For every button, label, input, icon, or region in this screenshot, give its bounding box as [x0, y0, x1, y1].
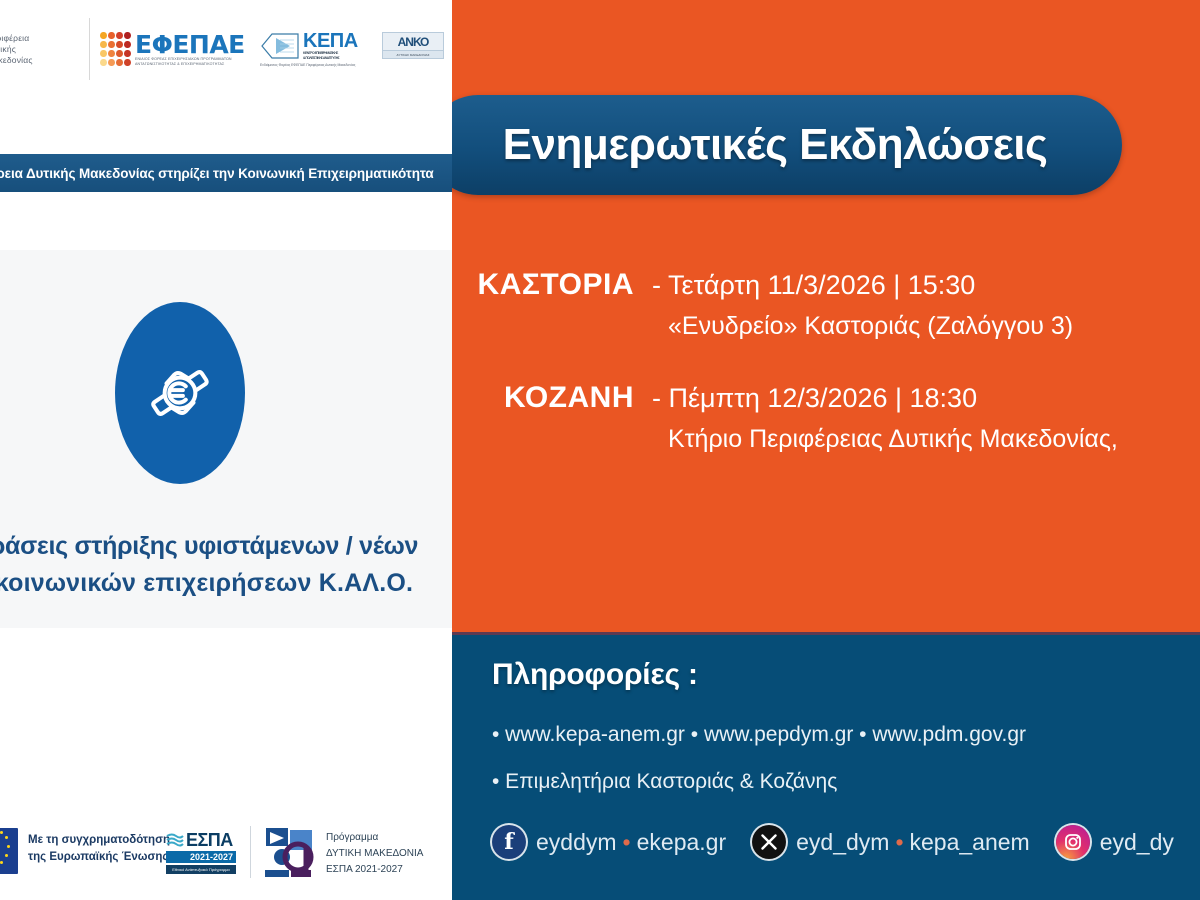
event-headline-row: ΚΑΣΤΟΡΙΑ - Τετάρτη 11/3/2026 | 15:30	[452, 268, 1200, 302]
info-websites-line: • www.kepa-anem.gr • www.pepdym.gr • www…	[492, 723, 1026, 747]
poster: Περιφέρεια Δυτικής Μακεδονίας ΕΦΕΠΑΕ ΕΝΙ…	[0, 0, 1200, 900]
headline-line-1: ράσεις στήριξης υφιστάμενων / νέων	[0, 528, 444, 565]
kepa-logo: ΚΕΠΑ ΚΕΝΤΡΟ ΕΠΙΧΕΙΡΗΜΑΤΙΚΗΣ & ΠΟΛΙΤΙΣΤΙΚ…	[260, 31, 372, 68]
social-x-twitter[interactable]: eyd_dym • kepa_anem	[752, 825, 1030, 859]
info-chambers-line: • Επιμελητήρια Καστοριάς & Κοζάνης	[492, 770, 837, 794]
instagram-icon[interactable]	[1056, 825, 1090, 859]
kepa-chevron-icon	[260, 31, 300, 61]
left-panel: Περιφέρεια Δυτικής Μακεδονίας ΕΦΕΠΑΕ ΕΝΙ…	[0, 0, 452, 900]
social-instagram[interactable]: eyd_dy	[1056, 825, 1174, 859]
facebook-handle-secondary: ekepa.gr	[637, 829, 727, 856]
event-venue: Κτήριο Περιφέρειας Δυτικής Μακεδονίας,	[452, 425, 1200, 454]
eu-cofinancing-line-1: Με τη συγχρηματοδότηση	[28, 832, 170, 849]
facebook-separator: •	[617, 829, 637, 856]
efepae-subtitle-2: ΑΝΤΑΓΩΝΙΣΤΙΚΟΤΗΤΑΣ & ΕΠΙΧΕΙΡΗΜΑΤΙΚΟΤΗΤΑΣ	[135, 62, 245, 67]
kepa-name: ΚΕΠΑ	[303, 30, 358, 52]
events-list: ΚΑΣΤΟΡΙΑ - Τετάρτη 11/3/2026 | 15:30 «Εν…	[452, 268, 1200, 494]
social-links-row: f eyddym • ekepa.gr eyd_dym • kepa_anem	[492, 825, 1200, 859]
anko-subtitle: ΔΥΤΙΚΗΣ ΜΑΚΕΔΟΝΙΑΣ	[382, 51, 444, 59]
region-support-banner: έρεια Δυτικής Μακεδονίας στηρίζει την Κο…	[0, 154, 452, 192]
region-logo-line-2: Δυτικής	[0, 44, 89, 55]
instagram-handle: eyd_dy	[1100, 829, 1174, 856]
kepa-chevron-svg	[260, 31, 300, 61]
partner-logo-row: Περιφέρεια Δυτικής Μακεδονίας ΕΦΕΠΑΕ ΕΝΙ…	[0, 14, 452, 84]
facebook-glyph: f	[504, 831, 513, 853]
event-city: ΚΑΣΤΟΡΙΑ	[452, 268, 652, 302]
social-facebook[interactable]: f eyddym • ekepa.gr	[492, 825, 726, 859]
right-panel: Ενημερωτικές Εκδηλώσεις ΚΑΣΤΟΡΙΑ - Τετάρ…	[452, 0, 1200, 900]
region-of-western-macedonia-logo: Περιφέρεια Δυτικής Μακεδονίας	[0, 18, 90, 80]
header-banner: Ενημερωτικές Εκδηλώσεις	[452, 95, 1122, 195]
espa-footnote: Εθνικό Ανάπτυξιακό Πρόγραμμα	[166, 865, 236, 874]
instagram-glyph	[1063, 832, 1083, 852]
european-union-flag-icon	[0, 828, 18, 874]
program-logo-svg	[262, 824, 320, 880]
program-text: Πρόγραμμα ΔΥΤΙΚΗ ΜΑΚΕΔΟΝΙΑ ΕΣΠΑ 2021-202…	[326, 830, 423, 878]
program-line-3: ΕΣΠΑ 2021-2027	[326, 862, 423, 878]
hands-euro-coin-svg	[132, 345, 228, 441]
event-city: ΚΟΖΑΝΗ	[452, 381, 652, 415]
info-block: Πληροφορίες : • www.kepa-anem.gr • www.p…	[452, 632, 1200, 900]
page-title: Ενημερωτικές Εκδηλώσεις	[503, 120, 1048, 170]
event-item: ΚΟΖΑΝΗ - Πέμπτη 12/3/2026 | 18:30 Κτήριο…	[452, 381, 1200, 454]
event-venue: «Ενυδρείο» Καστοριάς (Ζαλόγγου 3)	[452, 312, 1200, 341]
coin-icon-wrapper	[0, 298, 360, 488]
x-separator: •	[889, 829, 909, 856]
espa-logo: ΕΣΠΑ 2021-2027 Εθνικό Ανάπτυξιακό Πρόγρα…	[166, 830, 238, 876]
efepae-logo: ΕΦΕΠΑΕ ΕΝΙΑΙΟΣ ΦΟΡΕΑΣ ΕΠΙΧΕΙΡΗΣΙΑΚΩΝ ΠΡΟ…	[100, 32, 250, 67]
event-datetime: - Πέμπτη 12/3/2026 | 18:30	[652, 383, 977, 414]
program-line-2: ΔΥΤΙΚΗ ΜΑΚΕΔΟΝΙΑ	[326, 846, 423, 862]
x-handle-secondary: kepa_anem	[910, 829, 1030, 856]
western-macedonia-program-logo	[262, 824, 320, 880]
footer-divider	[250, 826, 251, 878]
hands-euro-coin-icon	[115, 302, 245, 484]
espa-wave-icon	[166, 832, 184, 848]
region-support-banner-text: έρεια Δυτικής Μακεδονίας στηρίζει την Κο…	[0, 166, 434, 181]
kepa-footnote: Ενδιάμεσος Φορέας ΕΦΕΠΑΕ Περιφέρειας Δυτ…	[260, 63, 372, 68]
kepa-mark-row: ΚΕΠΑ ΚΕΝΤΡΟ ΕΠΙΧΕΙΡΗΜΑΤΙΚΗΣ & ΠΟΛΙΤΙΣΤΙΚ…	[260, 31, 372, 61]
event-datetime: - Τετάρτη 11/3/2026 | 15:30	[652, 270, 975, 301]
espa-years: 2021-2027	[166, 851, 236, 863]
anko-logo: ΑΝΚΟ ΔΥΤΙΚΗΣ ΜΑΚΕΔΟΝΙΑΣ	[382, 32, 444, 66]
x-twitter-icon[interactable]	[752, 825, 786, 859]
info-title: Πληροφορίες :	[492, 658, 698, 692]
headline-line-2: κοινωνικών επιχειρήσεων Κ.ΑΛ.Ο.	[0, 565, 444, 602]
facebook-icon[interactable]: f	[492, 825, 526, 859]
left-headline: ράσεις στήριξης υφιστάμενων / νέων κοινω…	[0, 528, 444, 602]
kepa-wordmark: ΚΕΠΑ ΚΕΝΤΡΟ ΕΠΙΧΕΙΡΗΜΑΤΙΚΗΣ & ΠΟΛΙΤΙΣΤΙΚ…	[303, 31, 358, 60]
event-headline-row: ΚΟΖΑΝΗ - Πέμπτη 12/3/2026 | 18:30	[452, 381, 1200, 415]
anko-name: ΑΝΚΟ	[382, 32, 444, 51]
x-twitter-glyph	[761, 834, 777, 850]
event-item: ΚΑΣΤΟΡΙΑ - Τετάρτη 11/3/2026 | 15:30 «Εν…	[452, 268, 1200, 341]
efepae-wordmark: ΕΦΕΠΑΕ ΕΝΙΑΙΟΣ ΦΟΡΕΑΣ ΕΠΙΧΕΙΡΗΣΙΑΚΩΝ ΠΡΟ…	[135, 32, 245, 67]
program-line-1: Πρόγραμμα	[326, 830, 423, 846]
efepae-dot-grid-icon	[100, 32, 131, 66]
facebook-handle-primary: eyddym	[536, 829, 617, 856]
efepae-name: ΕΦΕΠΑΕ	[135, 32, 245, 57]
eu-cofinancing-line-2: της Ευρωπαϊκής Ένωσης	[28, 849, 170, 866]
eu-cofinancing-text: Με τη συγχρηματοδότηση της Ευρωπαϊκής Έν…	[28, 832, 170, 866]
kepa-subtitle-2: & ΠΟΛΙΤΙΣΤΙΚΗΣ ΑΝΑΠΤΥΞΗΣ	[303, 56, 358, 60]
region-logo-line-1: Περιφέρεια	[0, 33, 89, 44]
x-handle-primary: eyd_dym	[796, 829, 889, 856]
region-logo-line-3: Μακεδονίας	[0, 55, 89, 66]
espa-name: ΕΣΠΑ	[186, 830, 233, 850]
